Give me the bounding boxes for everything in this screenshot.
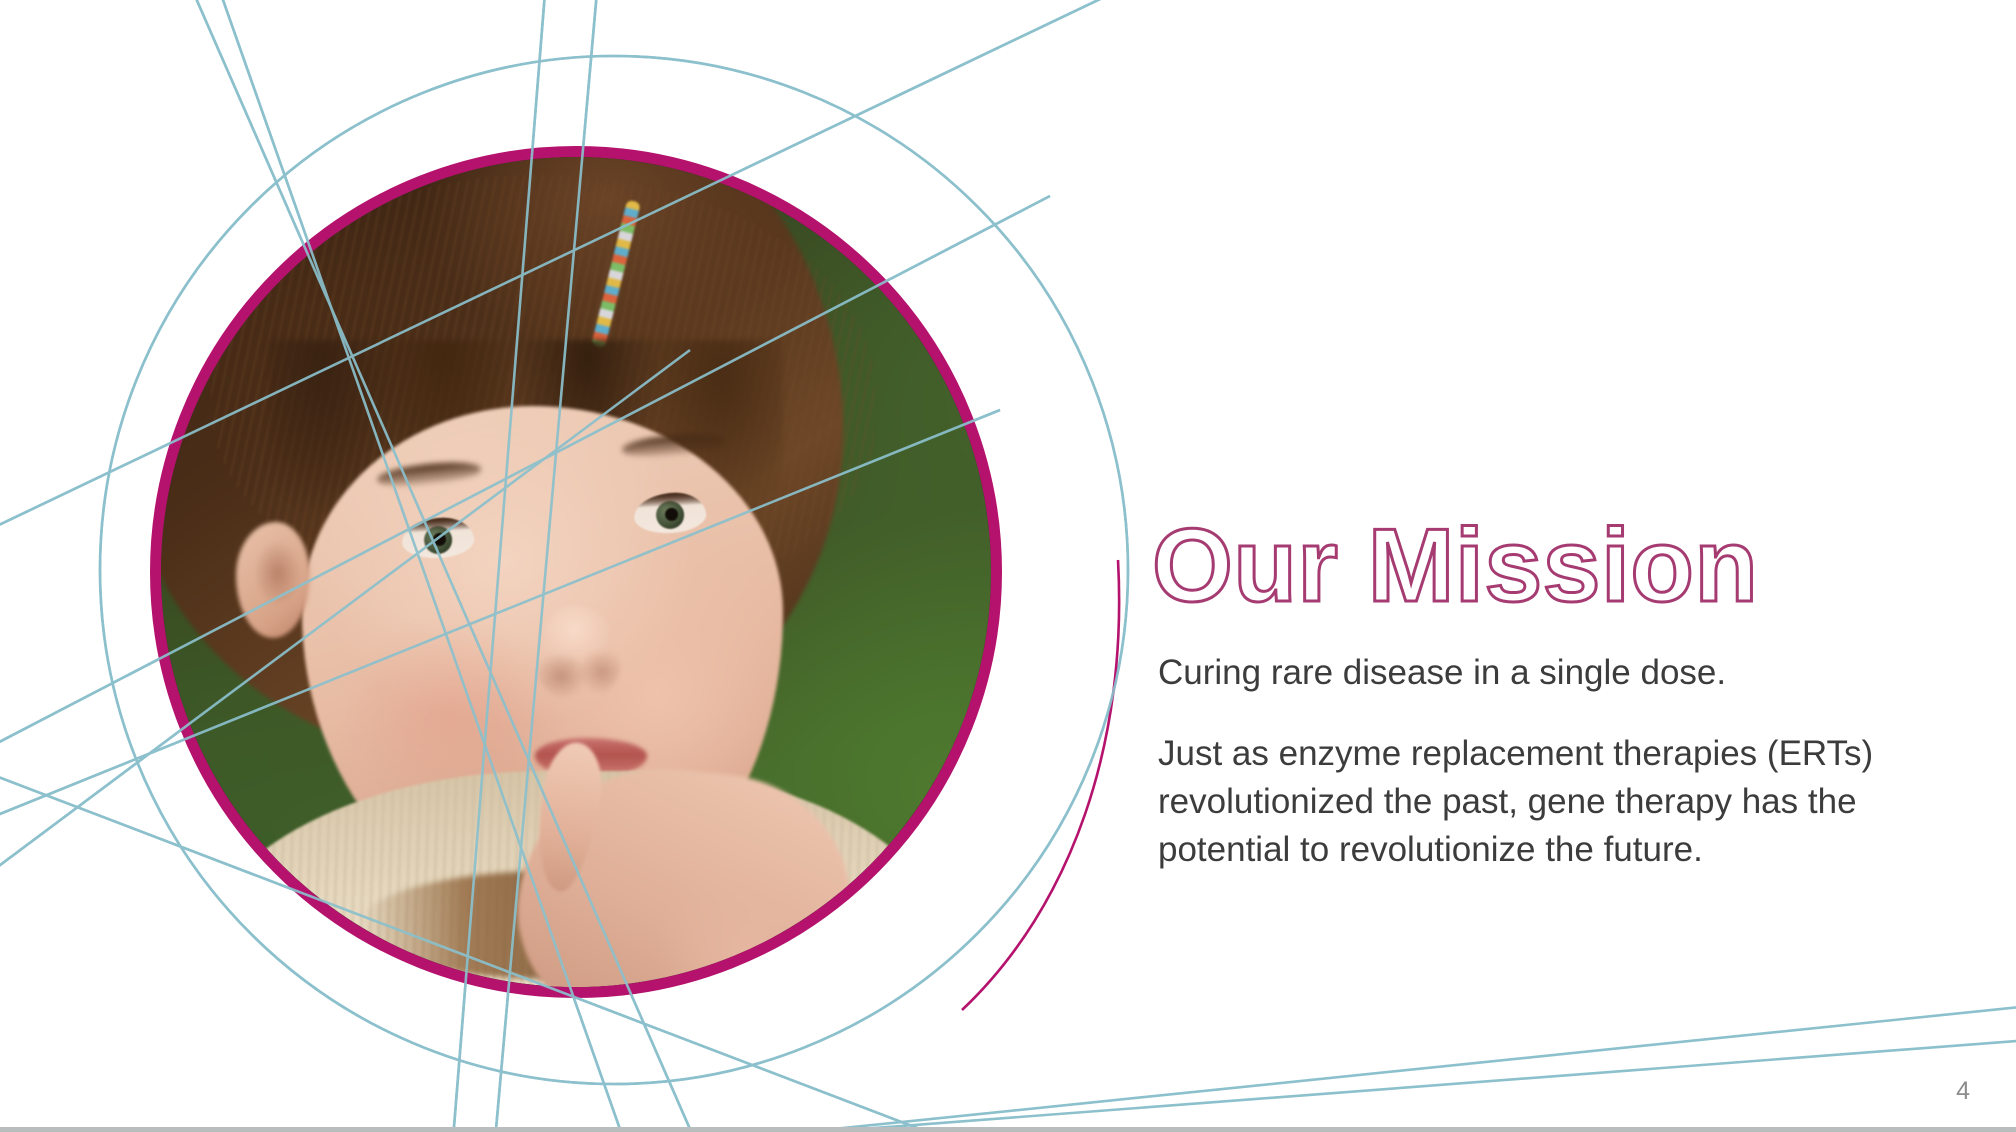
deco-line-11 xyxy=(560,1040,2016,1132)
mission-tagline: Curing rare disease in a single dose. xyxy=(1158,650,1952,696)
deco-line-10 xyxy=(610,1006,2016,1132)
bottom-divider xyxy=(0,1127,2016,1132)
mission-photo xyxy=(150,146,1002,998)
mission-text-block: Our Mission Curing rare disease in a sin… xyxy=(1152,512,1952,873)
page-title: Our Mission xyxy=(1152,512,1952,620)
mission-body-text: Just as enzyme replacement therapies (ER… xyxy=(1158,730,1918,874)
page-number: 4 xyxy=(1956,1077,1970,1106)
photo-image xyxy=(161,157,991,987)
slide-canvas: Our Mission Curing rare disease in a sin… xyxy=(0,0,2016,1132)
